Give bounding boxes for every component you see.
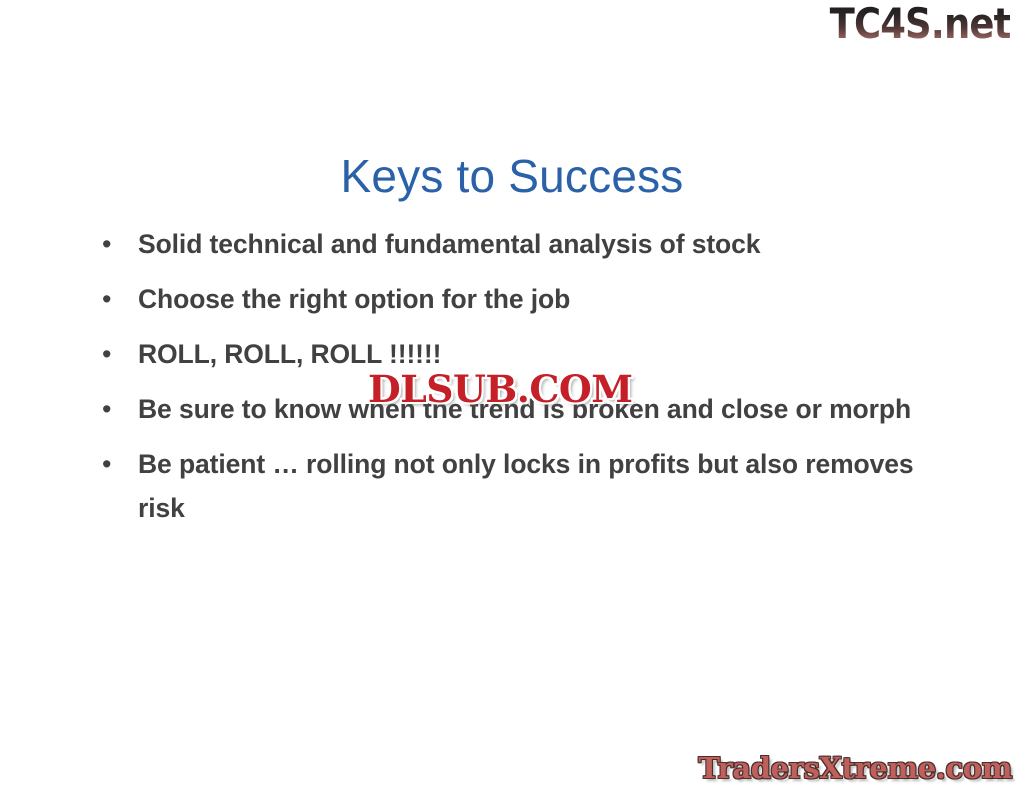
bullet-point-icon: • <box>96 332 138 376</box>
bullet-point-icon: • <box>96 277 138 321</box>
list-item: • Be sure to know when the trend is brok… <box>96 387 956 431</box>
list-item-text: Be sure to know when the trend is broken… <box>138 387 956 431</box>
list-item-text: Choose the right option for the job <box>138 277 956 321</box>
list-item: • Solid technical and fundamental analys… <box>96 222 956 266</box>
list-item-text: Solid technical and fundamental analysis… <box>138 222 956 266</box>
list-item: • ROLL, ROLL, ROLL !!!!!! <box>96 332 956 376</box>
bullet-point-icon: • <box>96 222 138 266</box>
list-item-text: Be patient … rolling not only locks in p… <box>138 442 956 530</box>
tradersxtreme-footer-logo: TradersXtreme.com <box>698 749 1012 787</box>
list-item: • Choose the right option for the job <box>96 277 956 321</box>
bullet-point-icon: • <box>96 442 138 486</box>
bullet-list: • Solid technical and fundamental analys… <box>96 222 956 541</box>
list-item: • Be patient … rolling not only locks in… <box>96 442 956 530</box>
tc4s-brand-logo: TC4S.net <box>829 2 1010 46</box>
list-item-text: ROLL, ROLL, ROLL !!!!!! <box>138 332 956 376</box>
bullet-point-icon: • <box>96 387 138 431</box>
presentation-slide: TC4S.net Keys to Success • Solid technic… <box>0 0 1024 791</box>
page-title: Keys to Success <box>0 149 1024 203</box>
